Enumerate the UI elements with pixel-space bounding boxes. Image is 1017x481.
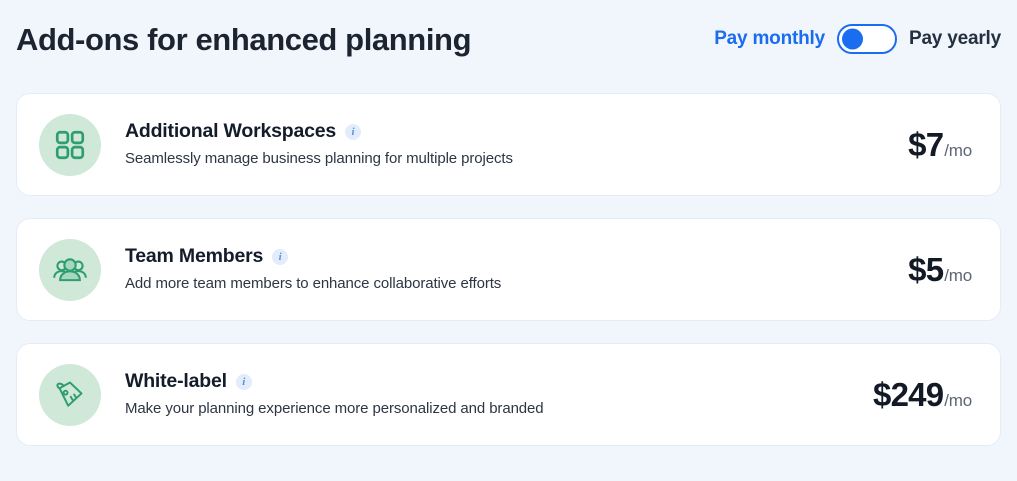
addon-card-team-members[interactable]: Team Members i Add more team members to … xyxy=(16,218,1001,321)
addon-price-period: /mo xyxy=(944,267,972,284)
pay-yearly-label[interactable]: Pay yearly xyxy=(909,28,1001,50)
team-members-icon xyxy=(39,239,101,301)
info-icon[interactable]: i xyxy=(272,249,288,265)
addon-price-amount: $7 xyxy=(908,128,943,161)
addon-price-amount: $5 xyxy=(908,253,943,286)
addon-price-block: $249 /mo xyxy=(873,378,976,411)
addon-title: Additional Workspaces xyxy=(125,121,336,142)
billing-period-toggle-group: Pay monthly Pay yearly xyxy=(714,24,1001,54)
addon-title-row: Team Members i xyxy=(125,246,908,267)
billing-period-switch[interactable] xyxy=(837,24,897,54)
pay-monthly-label[interactable]: Pay monthly xyxy=(714,28,825,50)
addon-text-block: Team Members i Add more team members to … xyxy=(125,246,908,292)
addon-description: Seamlessly manage business planning for … xyxy=(125,150,908,168)
addon-title: White-label xyxy=(125,371,227,392)
addon-card-white-label[interactable]: White-label i Make your planning experie… xyxy=(16,343,1001,446)
price-tag-icon xyxy=(39,364,101,426)
addon-price-block: $5 /mo xyxy=(908,253,976,286)
addon-card-additional-workspaces[interactable]: Additional Workspaces i Seamlessly manag… xyxy=(16,93,1001,196)
addon-title-row: White-label i xyxy=(125,371,873,392)
addon-description: Add more team members to enhance collabo… xyxy=(125,275,908,293)
info-icon[interactable]: i xyxy=(345,124,361,140)
addon-price-block: $7 /mo xyxy=(908,128,976,161)
addons-page: Add-ons for enhanced planning Pay monthl… xyxy=(0,0,1017,481)
page-header: Add-ons for enhanced planning Pay monthl… xyxy=(0,0,1017,78)
addon-price-period: /mo xyxy=(944,142,972,159)
grid-squares-icon xyxy=(39,114,101,176)
addon-title-row: Additional Workspaces i xyxy=(125,121,908,142)
addons-list: Additional Workspaces i Seamlessly manag… xyxy=(16,93,1001,446)
switch-knob xyxy=(842,29,863,50)
addon-title: Team Members xyxy=(125,246,263,267)
addon-price-amount: $249 xyxy=(873,378,943,411)
addon-text-block: White-label i Make your planning experie… xyxy=(125,371,873,417)
info-icon[interactable]: i xyxy=(236,374,252,390)
page-title: Add-ons for enhanced planning xyxy=(16,24,471,55)
addon-price-period: /mo xyxy=(944,392,972,409)
addon-text-block: Additional Workspaces i Seamlessly manag… xyxy=(125,121,908,167)
addon-description: Make your planning experience more perso… xyxy=(125,400,873,418)
